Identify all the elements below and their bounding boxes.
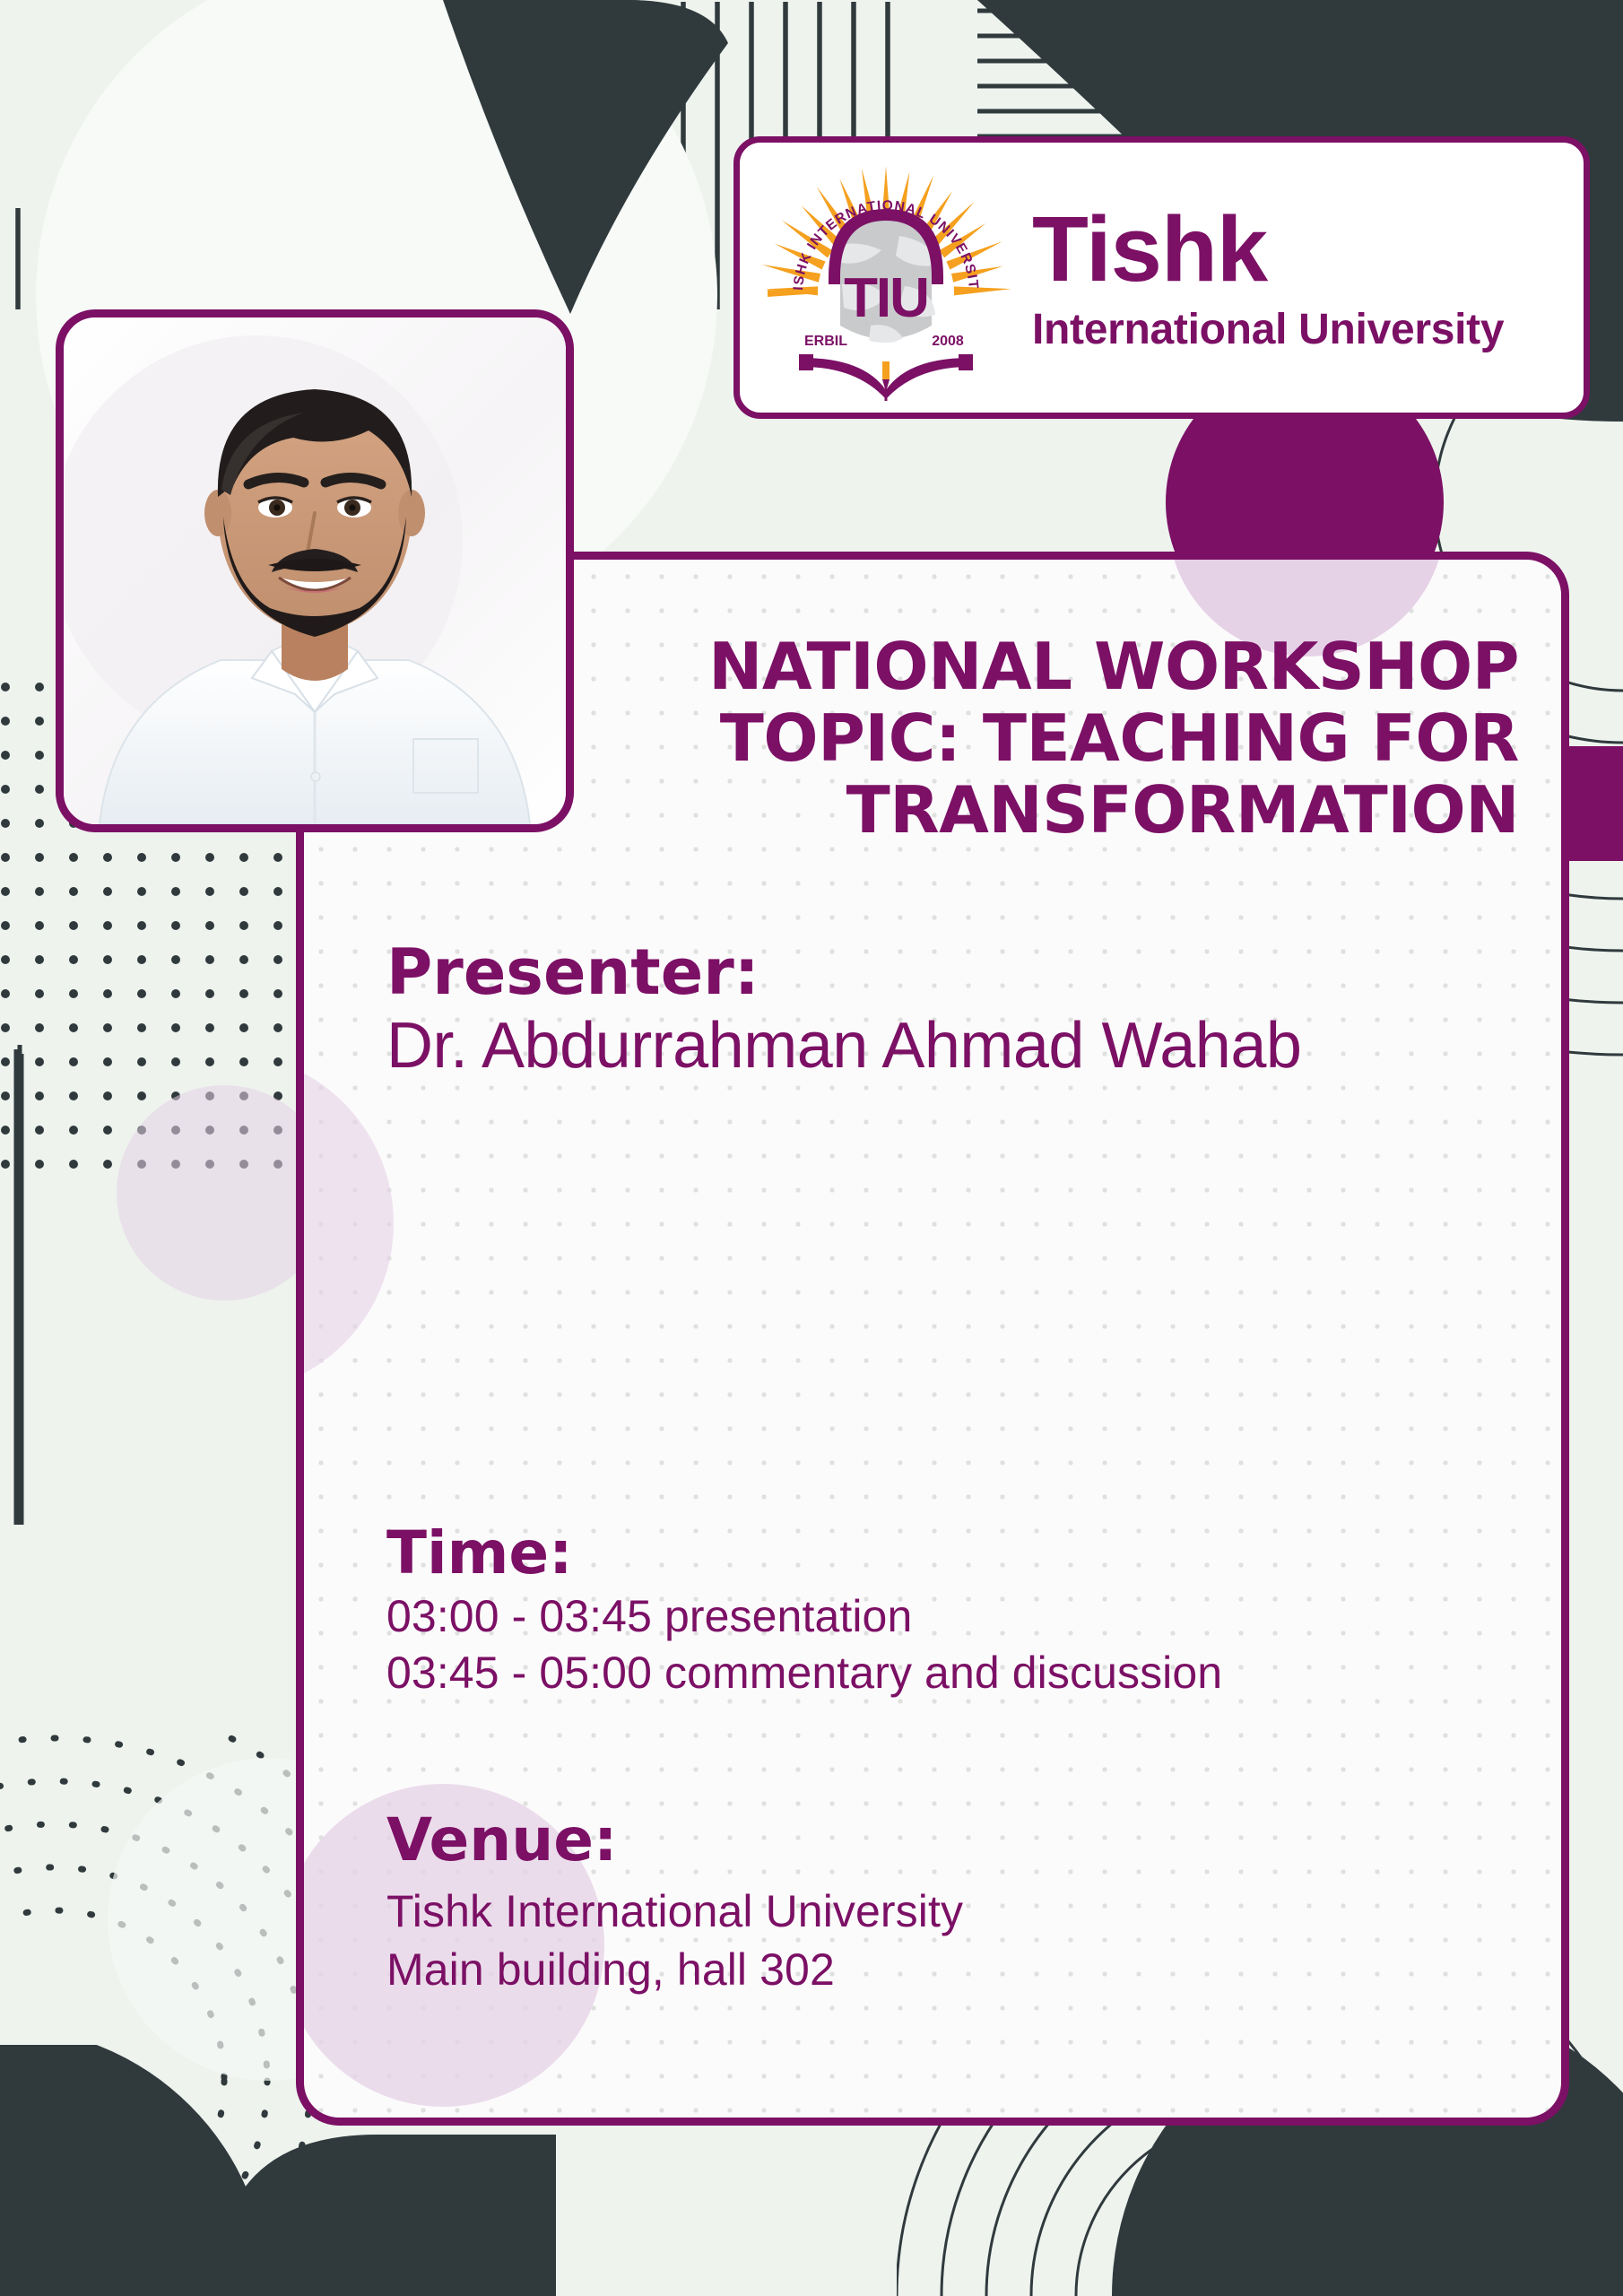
- logo-subtitle: International University: [1032, 308, 1504, 352]
- time-label: Time:: [386, 1524, 1222, 1583]
- presenter-photo-card: [56, 309, 574, 832]
- presenter-block: Presenter: Dr. Abdurrahman Ahmad Wahab: [386, 941, 1301, 1081]
- presenter-photo: [64, 317, 566, 824]
- time-block: Time: 03:00 - 03:45 presentation 03:45 -…: [386, 1524, 1222, 1700]
- university-logo-card: TISHK INTERNATIONAL UNIVERSITY TIU ERBIL…: [733, 136, 1590, 419]
- presenter-name: Dr. Abdurrahman Ahmad Wahab: [386, 1013, 1301, 1081]
- venue-line-1: Tishk International University: [386, 1883, 963, 1941]
- poster-root: NATIONAL WORKSHOP TOPIC: TEACHING FOR TR…: [0, 0, 1623, 2296]
- venue-label: Venue:: [386, 1811, 963, 1870]
- venue-line-2: Main building, hall 302: [386, 1941, 963, 1999]
- logo-name: Tishk: [1032, 203, 1504, 295]
- time-line-1: 03:00 - 03:45 presentation: [386, 1588, 1222, 1645]
- emblem-city: ERBIL: [804, 334, 847, 349]
- tiu-emblem-icon: TISHK INTERNATIONAL UNIVERSITY TIU ERBIL…: [756, 150, 1016, 405]
- venue-block: Venue: Tishk International University Ma…: [386, 1811, 963, 1999]
- emblem-year: 2008: [932, 334, 964, 349]
- presenter-label: Presenter:: [386, 941, 1301, 1004]
- emblem-monogram: TIU: [844, 267, 928, 329]
- time-line-2: 03:45 - 05:00 commentary and discussion: [386, 1645, 1222, 1701]
- logo-wordmark: Tishk International University: [1032, 203, 1504, 352]
